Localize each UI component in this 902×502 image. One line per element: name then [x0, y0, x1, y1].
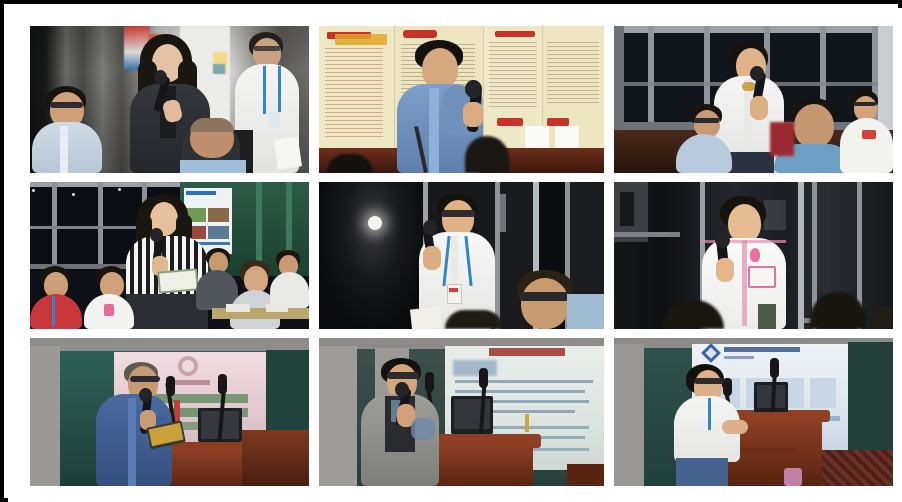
- photo-r2c3[interactable]: [614, 182, 893, 329]
- photo-r2c1[interactable]: [30, 182, 309, 329]
- photo-r3c1[interactable]: [30, 338, 309, 486]
- photo-r2c2[interactable]: [319, 182, 604, 329]
- photo-r1c3[interactable]: [614, 26, 893, 173]
- photo-r1c2[interactable]: [319, 26, 604, 173]
- collage-inner-mat: [8, 8, 902, 502]
- photo-r3c2[interactable]: [319, 338, 604, 486]
- collage-frame: [0, 0, 902, 502]
- photo-r1c1[interactable]: [30, 26, 309, 173]
- photo-grid: [30, 26, 892, 484]
- photo-r3c3[interactable]: [614, 338, 893, 486]
